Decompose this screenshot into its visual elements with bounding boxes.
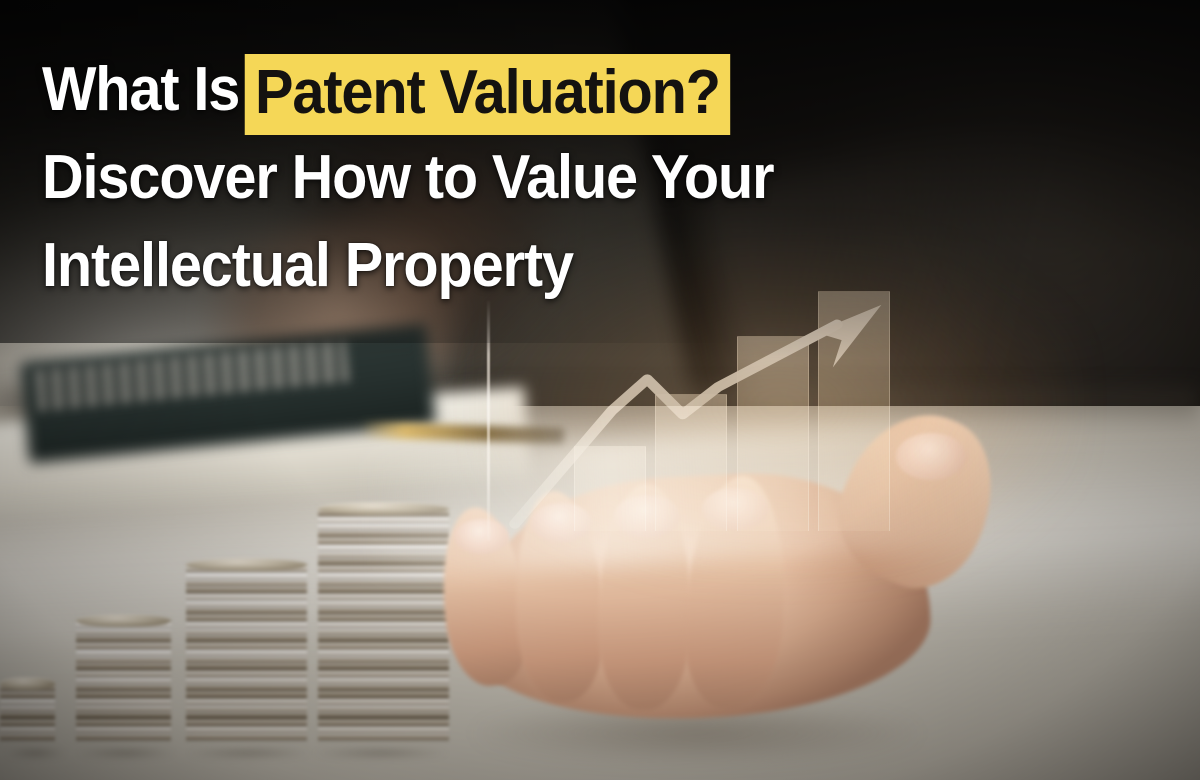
headline-line-2: Discover How to Value Your	[42, 134, 879, 222]
headline-line-1-prefix: What Is	[42, 55, 239, 124]
patent-valuation-banner: What IsPatent Valuation? Discover How to…	[0, 0, 1200, 780]
headline-highlight: Patent Valuation?	[245, 54, 730, 135]
headline-line-1: What IsPatent Valuation?	[42, 46, 879, 134]
headline-line-3: Intellectual Property	[42, 222, 879, 310]
headline-block: What IsPatent Valuation? Discover How to…	[42, 46, 942, 310]
